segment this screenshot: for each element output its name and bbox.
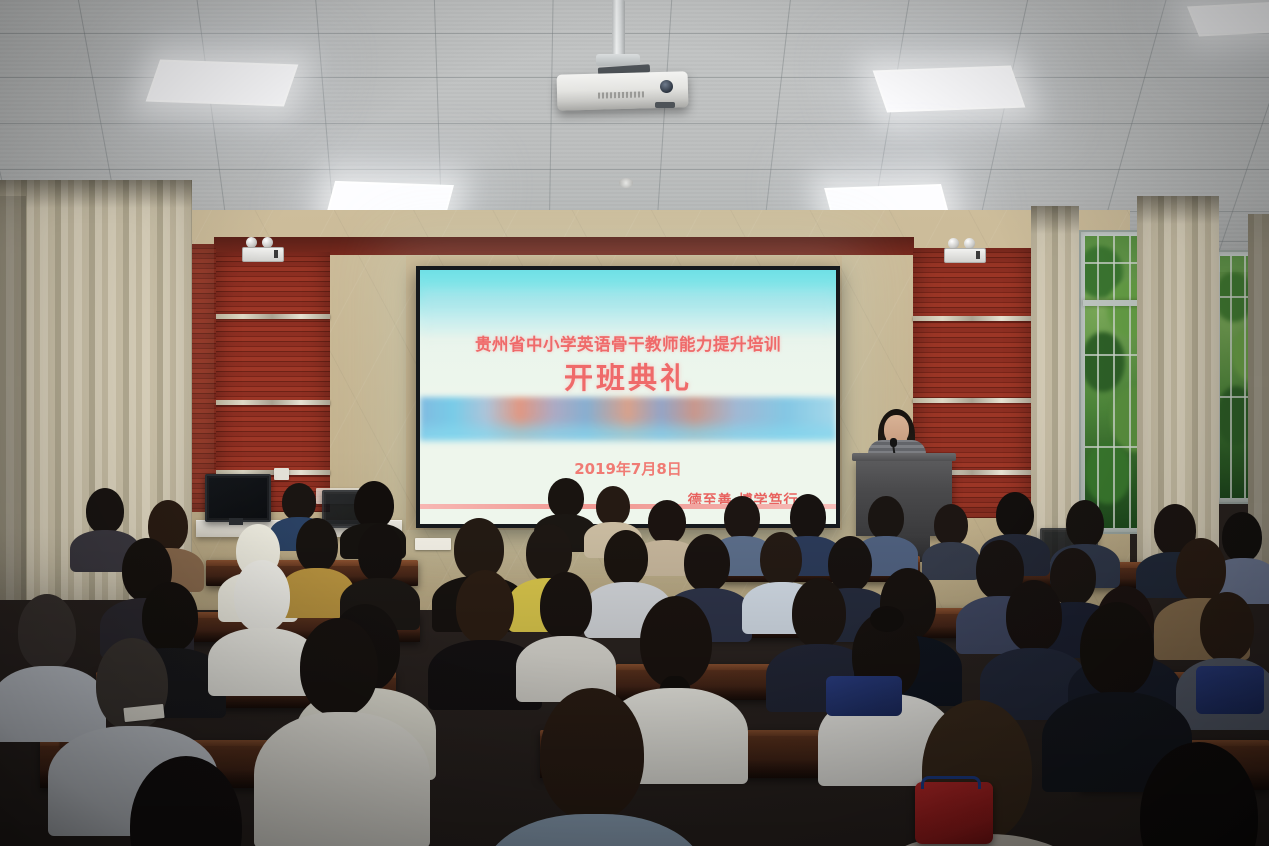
slide-subtitle: 开班典礼 bbox=[420, 355, 836, 397]
ceiling-light-panel bbox=[146, 60, 299, 107]
ceiling-light-panel bbox=[873, 66, 1026, 113]
podium-top bbox=[852, 453, 956, 461]
notebook bbox=[123, 704, 164, 722]
wall-accent-strip bbox=[214, 314, 330, 319]
microphone-icon bbox=[890, 438, 897, 447]
wall-accent-strip bbox=[214, 400, 330, 405]
presentation-slide: 贵州省中小学英语骨干教师能力提升培训 开班典礼 2019年7月8日 德至善 博学… bbox=[420, 270, 836, 524]
slide-date: 2019年7月8日 bbox=[420, 458, 836, 479]
wall-slat-panel-left bbox=[214, 252, 330, 512]
desk-papers bbox=[415, 538, 451, 550]
slide-title: 贵州省中小学英语骨干教师能力提升培训 bbox=[420, 331, 836, 355]
projector-mount-pole bbox=[612, 0, 625, 56]
projector-lens bbox=[660, 80, 673, 93]
red-handbag bbox=[915, 782, 993, 844]
projector-vent bbox=[598, 91, 644, 98]
monitor-stand bbox=[229, 518, 243, 525]
lecture-hall-photo: 贵州省中小学英语骨干教师能力提升培训 开班典礼 2019年7月8日 德至善 博学… bbox=[0, 0, 1269, 846]
projection-screen: 贵州省中小学英语骨干教师能力提升培训 开班典礼 2019年7月8日 德至善 博学… bbox=[416, 266, 840, 528]
window-glass bbox=[1085, 236, 1139, 528]
smoke-detector-icon bbox=[619, 178, 633, 188]
wall-accent-strip bbox=[913, 398, 1031, 403]
projector-ir-panel bbox=[655, 102, 675, 108]
window-security-bars bbox=[1085, 236, 1139, 528]
blue-bag bbox=[1196, 666, 1264, 714]
curtain-left-edge bbox=[0, 196, 26, 600]
blue-bag bbox=[826, 676, 902, 716]
wall-outlet bbox=[274, 468, 289, 480]
computer-monitor bbox=[205, 474, 271, 522]
ceiling-light-panel bbox=[1187, 1, 1269, 36]
slide-photo-band bbox=[420, 397, 836, 440]
hair-bun bbox=[870, 606, 904, 632]
projector-mount-plate bbox=[596, 54, 640, 66]
window-mullion bbox=[1083, 300, 1141, 306]
window-right-one bbox=[1079, 230, 1145, 534]
wall-accent-strip bbox=[913, 316, 1031, 321]
